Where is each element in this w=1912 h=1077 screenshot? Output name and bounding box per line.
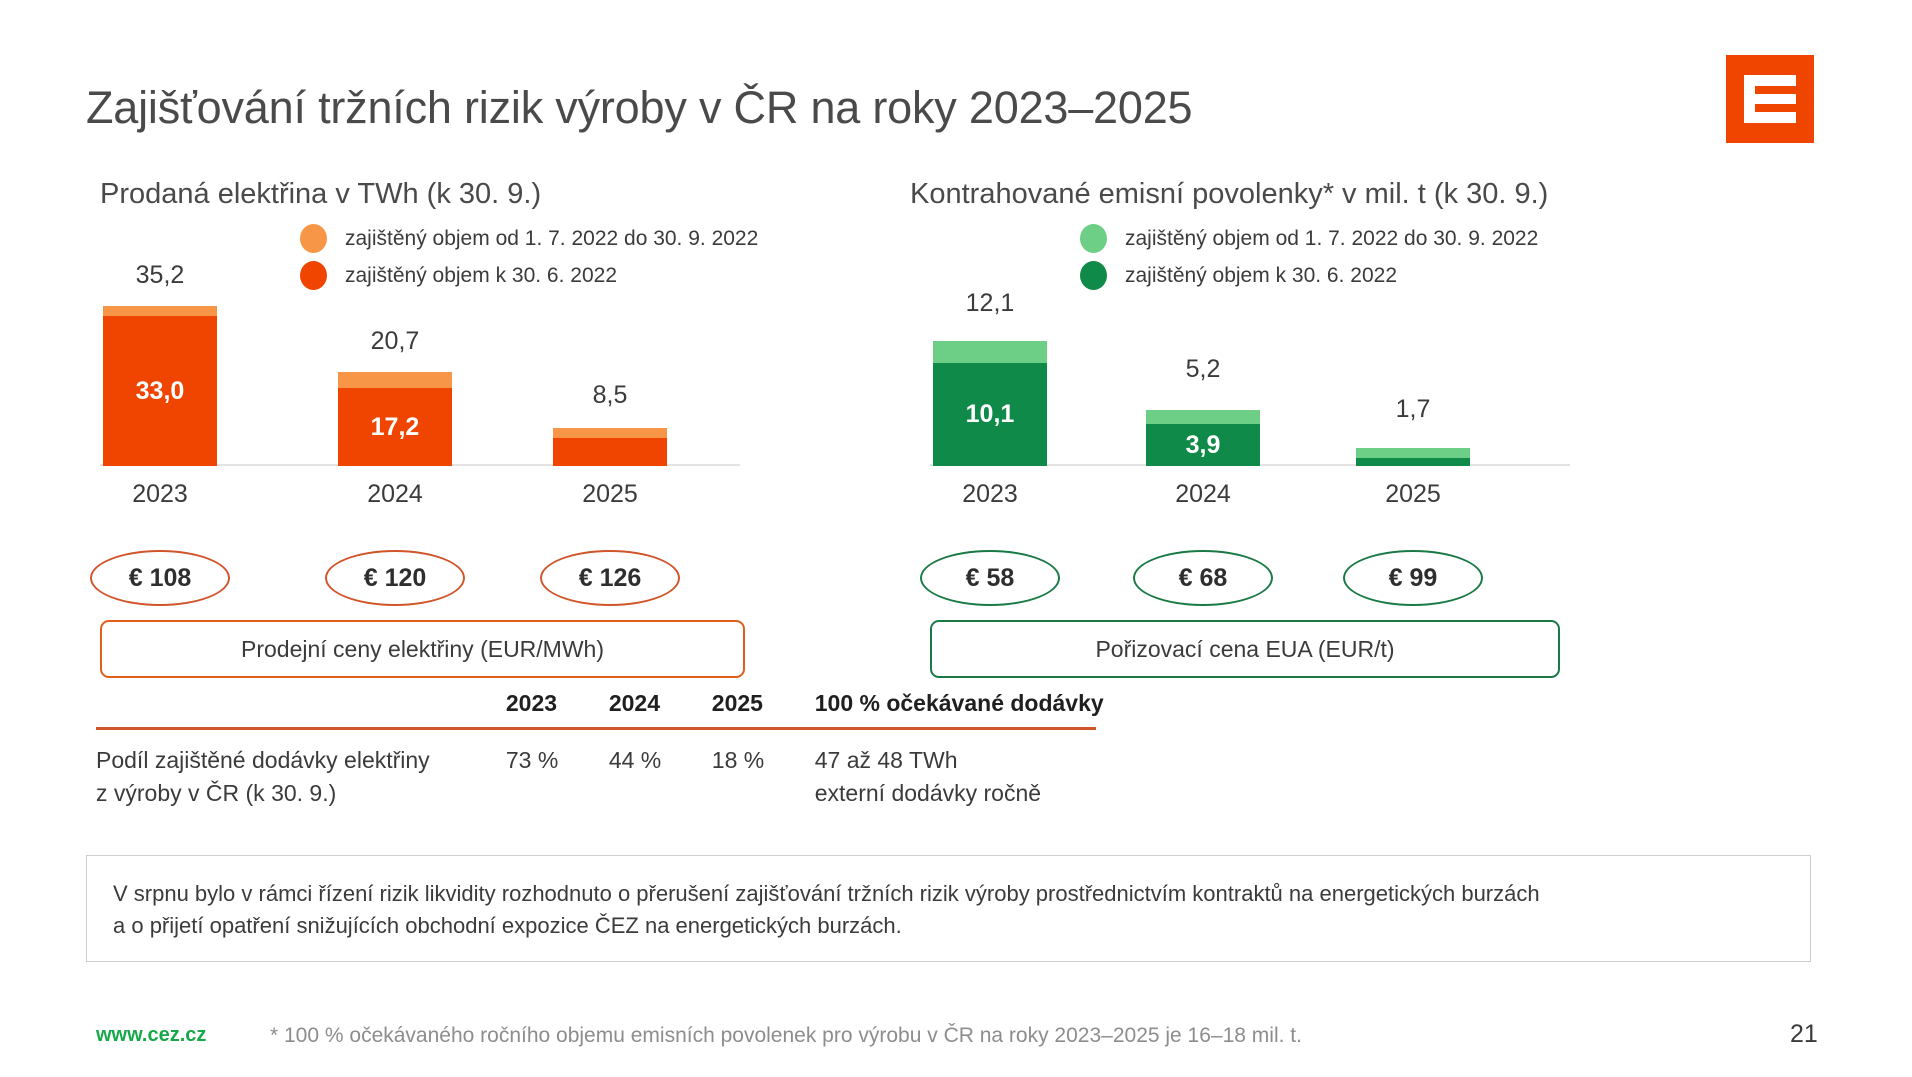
bar-stack[interactable]: 33,0 <box>103 306 217 466</box>
table-rule <box>96 727 1096 730</box>
bar-segment-value: 33,0 <box>136 377 185 406</box>
price-badge: € 120 <box>325 550 465 606</box>
bar-group: 35,2 33,0 2023 <box>100 306 220 466</box>
bar-segment-value: 10,1 <box>966 400 1015 429</box>
table-header-expected: 100 % očekávané dodávky <box>815 690 1196 717</box>
price-badge: € 99 <box>1343 550 1483 606</box>
table-row-label: Podíl zajištěné dodávky elektřiny z výro… <box>96 744 506 809</box>
legend-item: zajištěný objem od 1. 7. 2022 do 30. 9. … <box>1080 220 1538 257</box>
bar-total-label: 35,2 <box>100 261 220 290</box>
bar-segment-added <box>553 428 667 438</box>
chart-title-emission-allowances: Kontrahované emisní povolenky* v mil. t … <box>910 178 1680 211</box>
table-header-2025: 2025 <box>712 690 815 717</box>
footer-url[interactable]: www.cez.cz <box>96 1024 206 1047</box>
table-header-row: 2023 2024 2025 100 % očekávané dodávky <box>96 690 1196 727</box>
legend-label: zajištěný objem od 1. 7. 2022 do 30. 9. … <box>345 227 758 251</box>
bar-segment-added <box>1146 410 1260 424</box>
table-cell-expected-line2: externí dodávky ročně <box>815 777 1196 810</box>
bar-total-label: 8,5 <box>550 381 670 410</box>
legend-label: zajištěný objem od 1. 7. 2022 do 30. 9. … <box>1125 227 1538 251</box>
cez-logo-bar <box>1755 94 1796 104</box>
price-badge: € 126 <box>540 550 680 606</box>
price-caption-emission-allowances: Pořizovací cena EUA (EUR/t) <box>930 620 1560 678</box>
bar-stack[interactable] <box>1356 448 1470 466</box>
chart-electricity: Prodaná elektřina v TWh (k 30. 9.) zajiš… <box>100 178 870 211</box>
table-cell-expected: 47 až 48 TWh externí dodávky ročně <box>815 744 1196 809</box>
bar-total-label: 5,2 <box>1143 355 1263 384</box>
bar-segment-base <box>1356 458 1470 466</box>
table-header-2024: 2024 <box>609 690 712 717</box>
legend-item: zajištěný objem od 1. 7. 2022 do 30. 9. … <box>300 220 758 257</box>
x-tick-label: 2024 <box>1143 466 1263 509</box>
x-tick-label: 2023 <box>930 466 1050 509</box>
table-cell-expected-line1: 47 až 48 TWh <box>815 744 1196 777</box>
x-tick-label: 2024 <box>335 466 455 509</box>
bar-stack[interactable]: 10,1 <box>933 341 1047 466</box>
footer-footnote: * 100 % očekávaného ročního objemu emisn… <box>270 1024 1302 1048</box>
table-cell-2023: 73 % <box>506 744 609 777</box>
bar-segment-base: 3,9 <box>1146 424 1260 466</box>
bar-segment-added <box>103 306 217 316</box>
bar-stack[interactable]: 17,2 <box>338 372 452 466</box>
bar-total-label: 12,1 <box>930 289 1050 318</box>
table-row-label-line1: Podíl zajištěné dodávky elektřiny <box>96 744 506 777</box>
bar-segment-added <box>338 372 452 388</box>
note-line-1: V srpnu bylo v rámci řízení rizik likvid… <box>113 878 1784 910</box>
bar-group: 8,5 2025 <box>550 428 670 466</box>
page-title: Zajišťování tržních rizik výroby v ČR na… <box>86 82 1192 134</box>
note-line-2: a o přijetí opatření snižujících obchodn… <box>113 910 1784 942</box>
bar-total-label: 1,7 <box>1353 395 1473 424</box>
table-cell-2025: 18 % <box>712 744 815 777</box>
chart-title-electricity: Prodaná elektřina v TWh (k 30. 9.) <box>100 178 870 211</box>
price-badge: € 108 <box>90 550 230 606</box>
bar-segment-base: 10,1 <box>933 363 1047 466</box>
plot-area-electricity: 35,2 33,0 2023 20,7 17,2 2024 <box>100 268 800 518</box>
table-header-2023: 2023 <box>506 690 609 717</box>
price-badge: € 58 <box>920 550 1060 606</box>
table-row: Podíl zajištěné dodávky elektřiny z výro… <box>96 744 1196 809</box>
slide-root: Zajišťování tržních rizik výroby v ČR na… <box>0 0 1912 1077</box>
bar-stack[interactable] <box>553 428 667 466</box>
bar-segment-base: 33,0 <box>103 316 217 466</box>
note-box: V srpnu bylo v rámci řízení rizik likvid… <box>86 855 1811 962</box>
bar-segment-value: 17,2 <box>371 413 420 442</box>
price-caption-electricity: Prodejní ceny elektřiny (EUR/MWh) <box>100 620 745 678</box>
summary-table: 2023 2024 2025 100 % očekávané dodávky P… <box>96 690 1196 809</box>
bar-group: 5,2 3,9 2024 <box>1143 410 1263 466</box>
bar-total-label: 20,7 <box>335 327 455 356</box>
x-tick-label: 2023 <box>100 466 220 509</box>
legend-dot-icon <box>1080 224 1107 253</box>
cez-logo <box>1726 55 1814 143</box>
chart-emission-allowances: Kontrahované emisní povolenky* v mil. t … <box>910 178 1680 211</box>
bar-segment-added <box>1356 448 1470 458</box>
bar-group: 20,7 17,2 2024 <box>335 372 455 466</box>
table-cell-2024: 44 % <box>609 744 712 777</box>
bar-segment-added <box>933 341 1047 363</box>
table-row-label-line2: z výroby v ČR (k 30. 9.) <box>96 777 506 810</box>
bar-segment-base: 17,2 <box>338 388 452 466</box>
page-number: 21 <box>1790 1020 1818 1049</box>
x-tick-label: 2025 <box>550 466 670 509</box>
bar-group: 1,7 2025 <box>1353 448 1473 466</box>
price-badge: € 68 <box>1133 550 1273 606</box>
bar-stack[interactable]: 3,9 <box>1146 410 1260 466</box>
plot-area-emission-allowances: 12,1 10,1 2023 5,2 3,9 2024 <box>910 268 1610 518</box>
bar-segment-base <box>553 438 667 466</box>
bar-segment-value: 3,9 <box>1186 431 1221 460</box>
legend-dot-icon <box>300 224 327 253</box>
bar-group: 12,1 10,1 2023 <box>930 341 1050 466</box>
x-tick-label: 2025 <box>1353 466 1473 509</box>
